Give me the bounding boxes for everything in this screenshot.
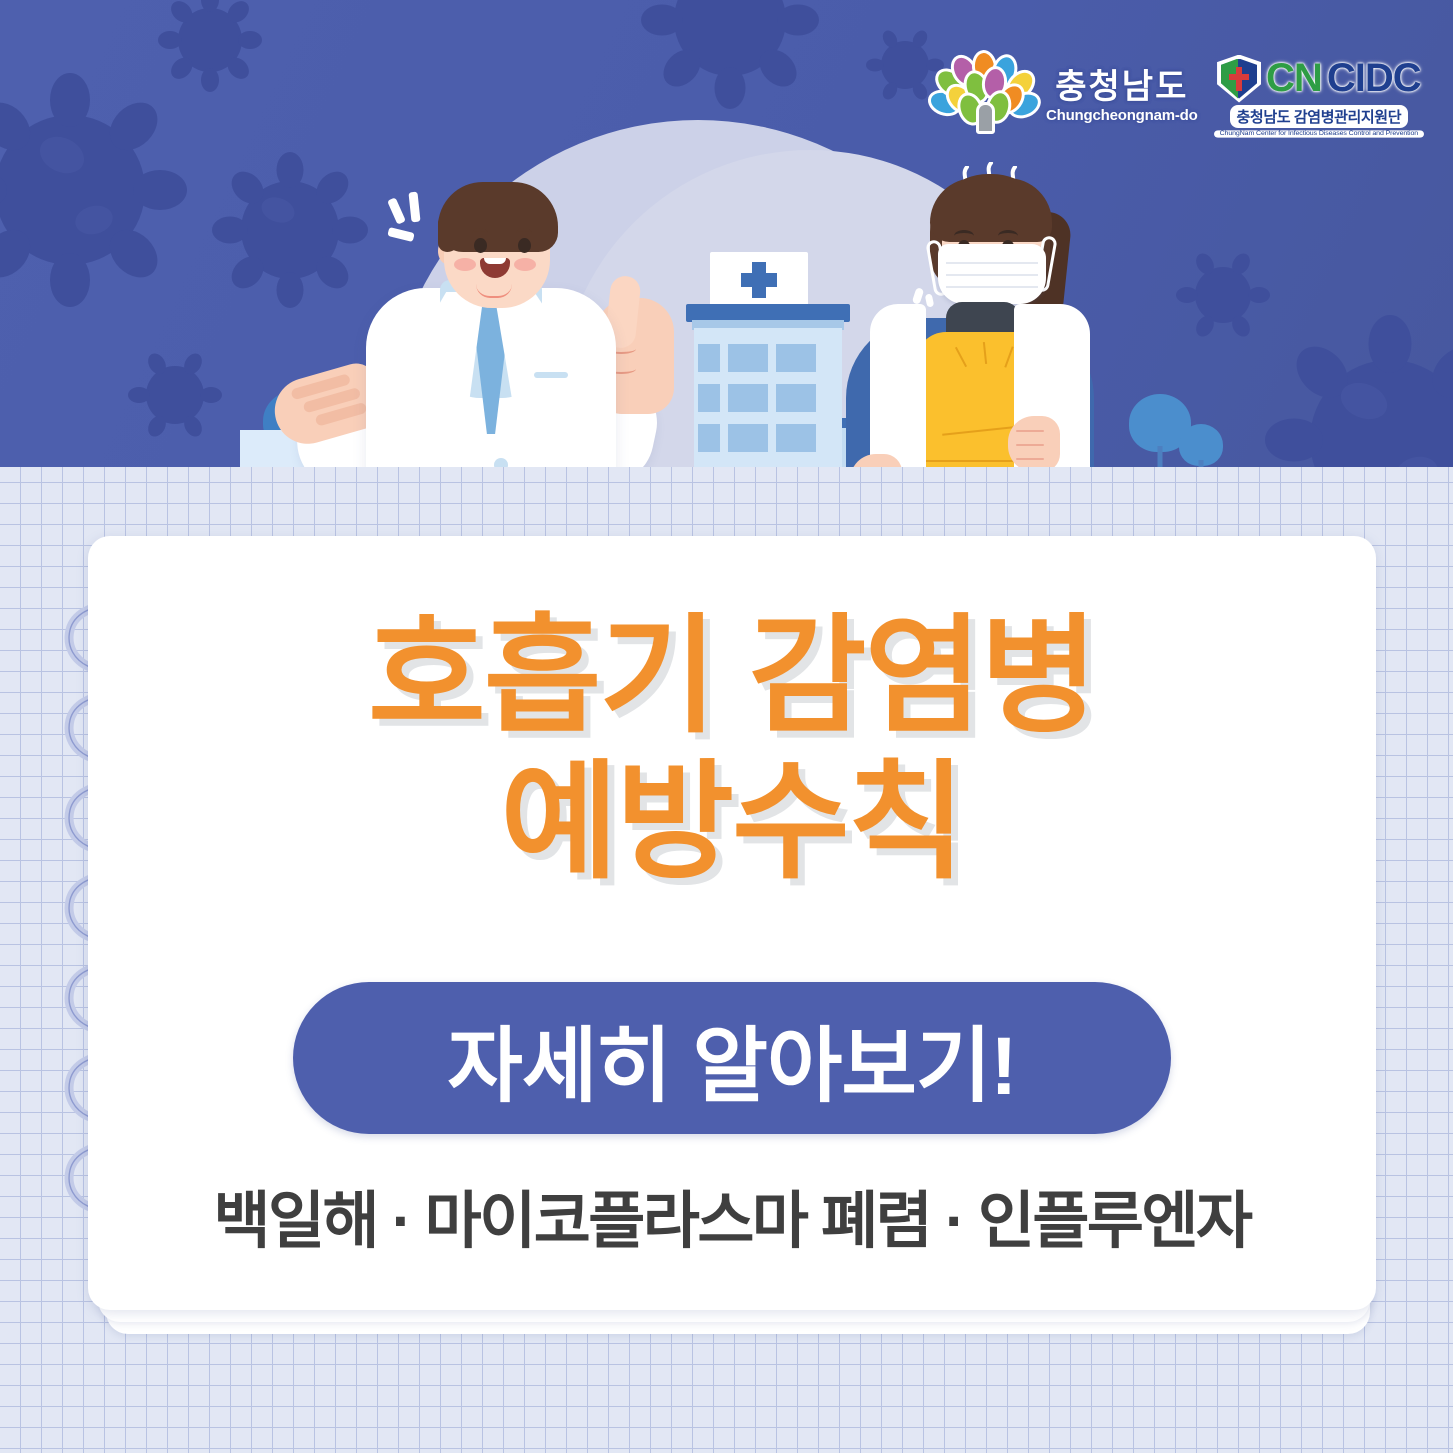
hospital-window bbox=[776, 424, 816, 452]
doctor-blush-left bbox=[454, 258, 476, 271]
tree-petal-logo-icon bbox=[930, 56, 1038, 136]
hospital-window bbox=[776, 384, 816, 412]
cncidc-english-name: ChungNam Center for Infectious Diseases … bbox=[1214, 130, 1424, 137]
virus-icon bbox=[630, 0, 830, 120]
chungcheongnam-do-logo: 충청남도 Chungcheongnam-do bbox=[930, 56, 1198, 136]
hospital-window bbox=[698, 384, 720, 412]
hospital-building bbox=[676, 252, 860, 467]
hospital-window bbox=[728, 344, 768, 372]
spark-icon bbox=[387, 227, 414, 242]
logo-korean-name: 충청남도 bbox=[1055, 70, 1188, 104]
virus-icon bbox=[1250, 300, 1453, 467]
doctor-coat-button bbox=[494, 458, 508, 467]
cough-mark-icon bbox=[925, 293, 935, 307]
doctor-character bbox=[278, 176, 698, 467]
shield-cross-icon bbox=[1217, 55, 1261, 103]
logo-trunk bbox=[976, 102, 995, 134]
header-illustration-band: 충청남도 Chungcheongnam-do CN CIDC 충청남도 감염병관… bbox=[0, 0, 1453, 467]
learn-more-button[interactable]: 자세히 알아보기! bbox=[293, 982, 1171, 1134]
logo-english-name: Chungcheongnam-do bbox=[1046, 108, 1198, 123]
doctor-eyebrow-left bbox=[472, 228, 488, 238]
patient-cardigan-left bbox=[870, 304, 926, 467]
cncidc-cidc-text: CIDC bbox=[1327, 56, 1421, 101]
medical-cross-icon bbox=[741, 273, 777, 287]
logo-bar: 충청남도 Chungcheongnam-do CN CIDC 충청남도 감염병관… bbox=[930, 48, 1424, 144]
hospital-window bbox=[728, 384, 768, 412]
face-mask-icon bbox=[938, 244, 1046, 304]
doctor-eye-left bbox=[474, 238, 487, 253]
hospital-window bbox=[698, 424, 720, 452]
virus-icon bbox=[150, 0, 270, 100]
hospital-window bbox=[698, 344, 720, 372]
spark-icon bbox=[387, 197, 406, 224]
doctor-blush-right bbox=[514, 258, 536, 271]
patient-hand-right bbox=[1008, 416, 1060, 467]
page-title: 호흡기 감염병 예방수칙 bbox=[88, 604, 1376, 896]
spark-icon bbox=[408, 192, 420, 223]
virus-icon bbox=[120, 340, 230, 450]
chungcheongnam-do-wordmark: 충청남도 Chungcheongnam-do bbox=[1046, 70, 1198, 123]
doctor-eye-right bbox=[518, 238, 531, 253]
doctor-pocket bbox=[534, 372, 568, 378]
tree-icon bbox=[1178, 424, 1224, 467]
content-card: 호흡기 감염병 예방수칙 자세히 알아보기! 백일해 · 마이코플라스마 폐렴 … bbox=[88, 536, 1376, 1310]
cncidc-mark-row: CN CIDC bbox=[1217, 55, 1421, 103]
learn-more-label: 자세히 알아보기! bbox=[447, 999, 1016, 1118]
cncidc-logo: CN CIDC 충청남도 감염병관리지원단 ChungNam Center fo… bbox=[1214, 55, 1424, 138]
doctor-eyebrow-right bbox=[516, 228, 532, 238]
patient-character bbox=[846, 160, 1126, 467]
poster-root: 충청남도 Chungcheongnam-do CN CIDC 충청남도 감염병관… bbox=[0, 0, 1453, 1453]
cncidc-cn-text: CN bbox=[1266, 56, 1322, 101]
doctor-sideburn bbox=[438, 212, 460, 252]
cough-mark-icon bbox=[912, 287, 925, 305]
hospital-window bbox=[776, 344, 816, 372]
disease-list-subtitle: 백일해 · 마이코플라스마 폐렴 · 인플루엔자 bbox=[88, 1170, 1376, 1260]
cncidc-korean-name: 충청남도 감염병관리지원단 bbox=[1230, 105, 1409, 128]
hospital-window bbox=[728, 424, 768, 452]
patient-bangs bbox=[930, 178, 1052, 242]
